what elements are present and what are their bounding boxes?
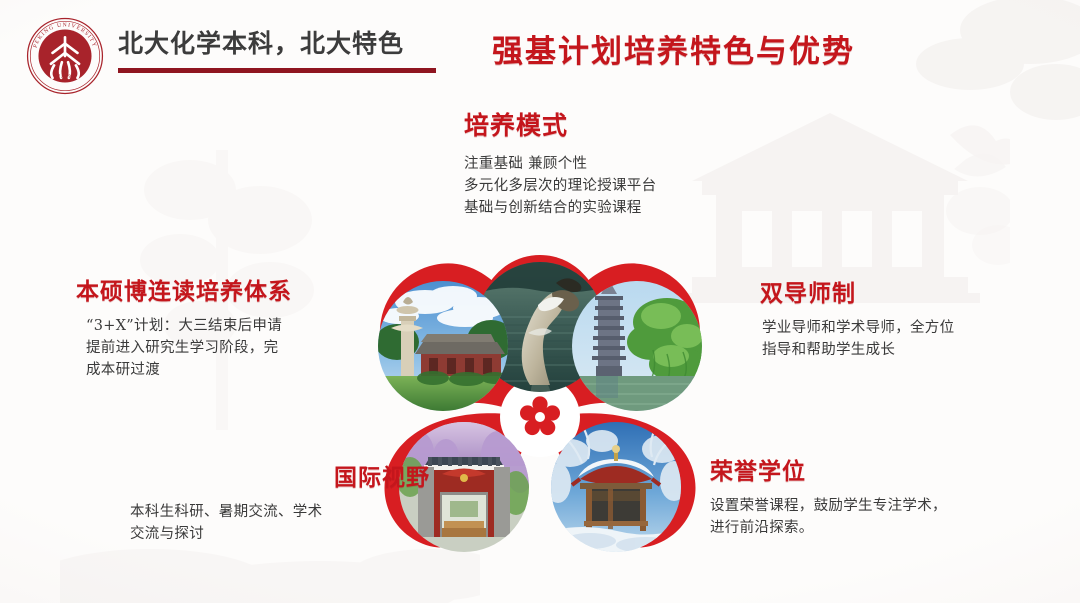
section-title: 本硕博连读培养体系	[76, 272, 376, 306]
section-guoji-shiye: 国际视野 本科生科研、暑期交流、学术 交流与探讨	[130, 458, 430, 545]
section-title: 荣誉学位	[710, 452, 1020, 486]
watermark-corner-icon	[820, 0, 1080, 170]
header-subtitle: 北大化学本科，北大特色	[118, 24, 404, 60]
body-line: 成本研过渡	[86, 359, 376, 381]
body-line: 进行前沿探索。	[710, 517, 1020, 539]
section-benshuobo-lianduo: 本硕博连读培养体系 “3+X”计划：大三结束后申请 提前进入研究生学习阶段，完 …	[76, 272, 376, 381]
section-body: 注重基础 兼顾个性 多元化多层次的理论授课平台 基础与创新结合的实验课程	[464, 153, 656, 219]
page-title: 强基计划培养特色与优势	[492, 26, 855, 71]
body-line: 基础与创新结合的实验课程	[464, 197, 656, 219]
body-line: 提前进入研究生学习阶段，完	[86, 337, 376, 359]
body-line: 学业导师和学术导师，全方位	[762, 317, 1060, 339]
body-line: 注重基础 兼顾个性	[464, 153, 656, 175]
body-line: 交流与探讨	[130, 523, 430, 545]
body-line: 本科生科研、暑期交流、学术	[130, 501, 430, 523]
header-underline-rule	[118, 68, 436, 73]
body-line: 多元化多层次的理论授课平台	[464, 175, 656, 197]
section-title: 国际视野	[255, 458, 430, 492]
section-peiyang-moshi: 培养模式 注重基础 兼顾个性 多元化多层次的理论授课平台 基础与创新结合的实验课…	[464, 106, 656, 219]
section-shuang-daoshi-zhi: 双导师制 学业导师和学术导师，全方位 指导和帮助学生成长	[760, 274, 1060, 361]
peking-university-logo-icon: PEKING UNIVERSITY 1898	[26, 17, 104, 95]
section-title: 双导师制	[760, 274, 1060, 308]
section-rongyu-xuewei: 荣誉学位 设置荣誉课程，鼓励学生专注学术， 进行前沿探索。	[710, 452, 1020, 539]
slide-canvas: PEKING UNIVERSITY 1898 北大化学本科，北大特色 强基计划培…	[0, 0, 1080, 603]
body-line: 设置荣誉课程，鼓励学生专注学术，	[710, 495, 1020, 517]
section-body: 本科生科研、暑期交流、学术 交流与探讨	[130, 501, 430, 545]
body-line: “3+X”计划：大三结束后申请	[86, 315, 376, 337]
body-line: 指导和帮助学生成长	[762, 339, 1060, 361]
section-body: 设置荣誉课程，鼓励学生专注学术， 进行前沿探索。	[710, 495, 1020, 539]
section-body: “3+X”计划：大三结束后申请 提前进入研究生学习阶段，完 成本研过渡	[76, 315, 376, 381]
section-body: 学业导师和学术导师，全方位 指导和帮助学生成长	[760, 317, 1060, 361]
section-title: 培养模式	[464, 106, 656, 142]
